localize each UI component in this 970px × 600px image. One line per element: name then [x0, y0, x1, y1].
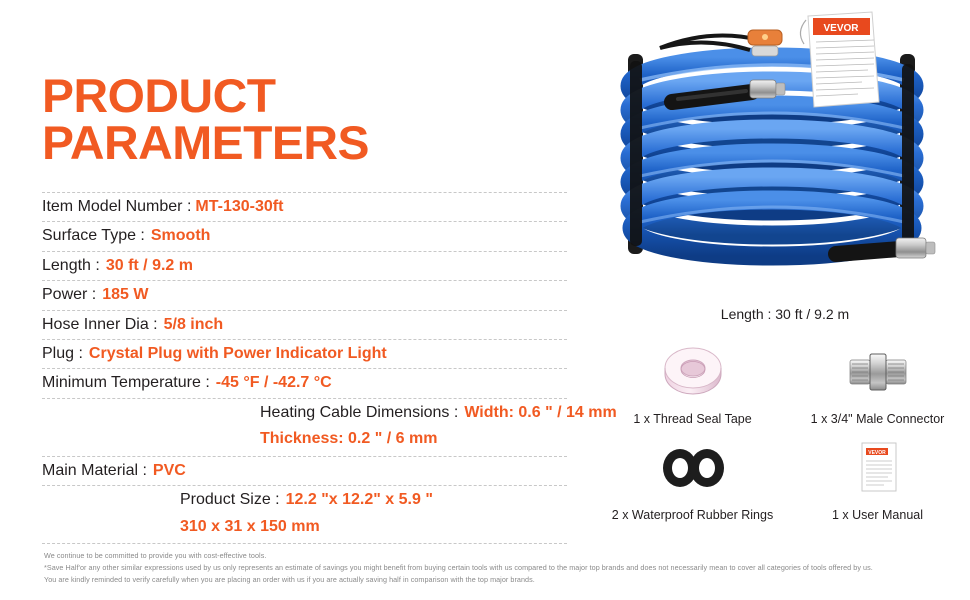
spec-value-secondary: Thickness: 0.2 " / 6 mm: [260, 430, 437, 448]
spec-value: 12.2 "x 12.2" x 5.9 ": [286, 491, 433, 509]
spec-row-length: Length : 30 ft / 9.2 m: [42, 252, 567, 281]
spec-value: PVC: [153, 462, 186, 480]
accessory-male-connector: 1 x 3/4" Male Connector: [785, 336, 970, 426]
male-connector-icon: [785, 336, 970, 408]
specifications-column: PRODUCT PARAMETERS Item Model Number : M…: [0, 0, 600, 545]
accessory-user-manual: VEVOR 1 x User Manual: [785, 432, 970, 522]
accessory-caption: 1 x Thread Seal Tape: [600, 412, 785, 426]
footer-line-2: *Save Half'or any other similar expressi…: [44, 562, 930, 574]
user-manual-icon: VEVOR: [785, 432, 970, 504]
spec-row-item-model-number: Item Model Number : MT-130-30ft: [42, 192, 567, 222]
accessory-thread-seal-tape: 1 x Thread Seal Tape: [600, 336, 785, 426]
spec-row-surface-type: Surface Type : Smooth: [42, 222, 567, 251]
spec-value: Width: 0.6 " / 14 mm: [464, 404, 616, 422]
spec-label: Heating Cable Dimensions :: [260, 404, 458, 422]
spec-label: Product Size :: [180, 491, 280, 509]
spec-value: 5/8 inch: [164, 316, 224, 334]
spec-label: Surface Type :: [42, 227, 145, 245]
spec-row-product-size: Product Size : 12.2 "x 12.2" x 5.9 " 310…: [42, 486, 567, 544]
accessory-caption: 1 x 3/4" Male Connector: [785, 412, 970, 426]
spec-label: Hose Inner Dia :: [42, 316, 158, 334]
spec-value: 185 W: [102, 286, 148, 304]
spec-value: 30 ft / 9.2 m: [106, 257, 193, 275]
svg-text:VEVOR: VEVOR: [823, 23, 859, 34]
spec-row-power: Power : 185 W: [42, 281, 567, 310]
spec-value: MT-130-30ft: [195, 198, 283, 216]
footer-disclaimer: We continue to be committed to provide y…: [0, 544, 970, 600]
spec-list: Item Model Number : MT-130-30ft Surface …: [42, 192, 567, 544]
accessories-grid: 1 x Thread Seal Tape: [600, 336, 970, 536]
spec-value: Crystal Plug with Power Indicator Light: [89, 345, 387, 363]
coil-strap-front-right: [902, 64, 914, 242]
page-title: PRODUCT PARAMETERS: [42, 72, 611, 166]
spec-value: -45 °F / -42.7 °C: [216, 374, 332, 392]
hero-product-image: VEVOR: [600, 6, 970, 296]
spec-row-main-material: Main Material : PVC: [42, 457, 567, 486]
spec-row-plug: Plug : Crystal Plug with Power Indicator…: [42, 340, 567, 369]
spec-value: Smooth: [151, 227, 211, 245]
footer-line-1: We continue to be committed to provide y…: [44, 550, 930, 562]
spec-row-hose-inner-dia: Hose Inner Dia : 5/8 inch: [42, 311, 567, 340]
accessory-waterproof-rubber-rings: 2 x Waterproof Rubber Rings: [600, 432, 785, 522]
spec-row-heating-cable-dimensions: Heating Cable Dimensions : Width: 0.6 " …: [42, 399, 567, 457]
vevor-hang-tag: VEVOR: [800, 12, 879, 107]
coiled-hose-illustration: VEVOR: [600, 6, 970, 306]
spec-row-minimum-temperature: Minimum Temperature : -45 °F / -42.7 °C: [42, 369, 567, 398]
spec-label: Minimum Temperature :: [42, 374, 210, 392]
spec-label: Power :: [42, 286, 96, 304]
spec-label: Main Material :: [42, 462, 147, 480]
accessory-caption: 1 x User Manual: [785, 508, 970, 522]
spec-label: Item Model Number :: [42, 198, 191, 216]
coil-strap-front-left: [630, 61, 642, 246]
thread-seal-tape-icon: [600, 336, 785, 408]
spec-label: Plug :: [42, 345, 83, 363]
footer-line-3: You are kindly reminded to verify carefu…: [44, 574, 930, 586]
svg-text:VEVOR: VEVOR: [868, 450, 886, 456]
rubber-rings-icon: [600, 432, 785, 504]
spec-label: Length :: [42, 257, 100, 275]
hero-caption: Length : 30 ft / 9.2 m: [600, 306, 970, 322]
product-images-column: VEVOR Lengt: [600, 0, 970, 545]
spec-value-secondary: 310 x 31 x 150 mm: [180, 518, 320, 536]
accessory-caption: 2 x Waterproof Rubber Rings: [600, 508, 785, 522]
product-parameters-page: PRODUCT PARAMETERS Item Model Number : M…: [0, 0, 970, 600]
